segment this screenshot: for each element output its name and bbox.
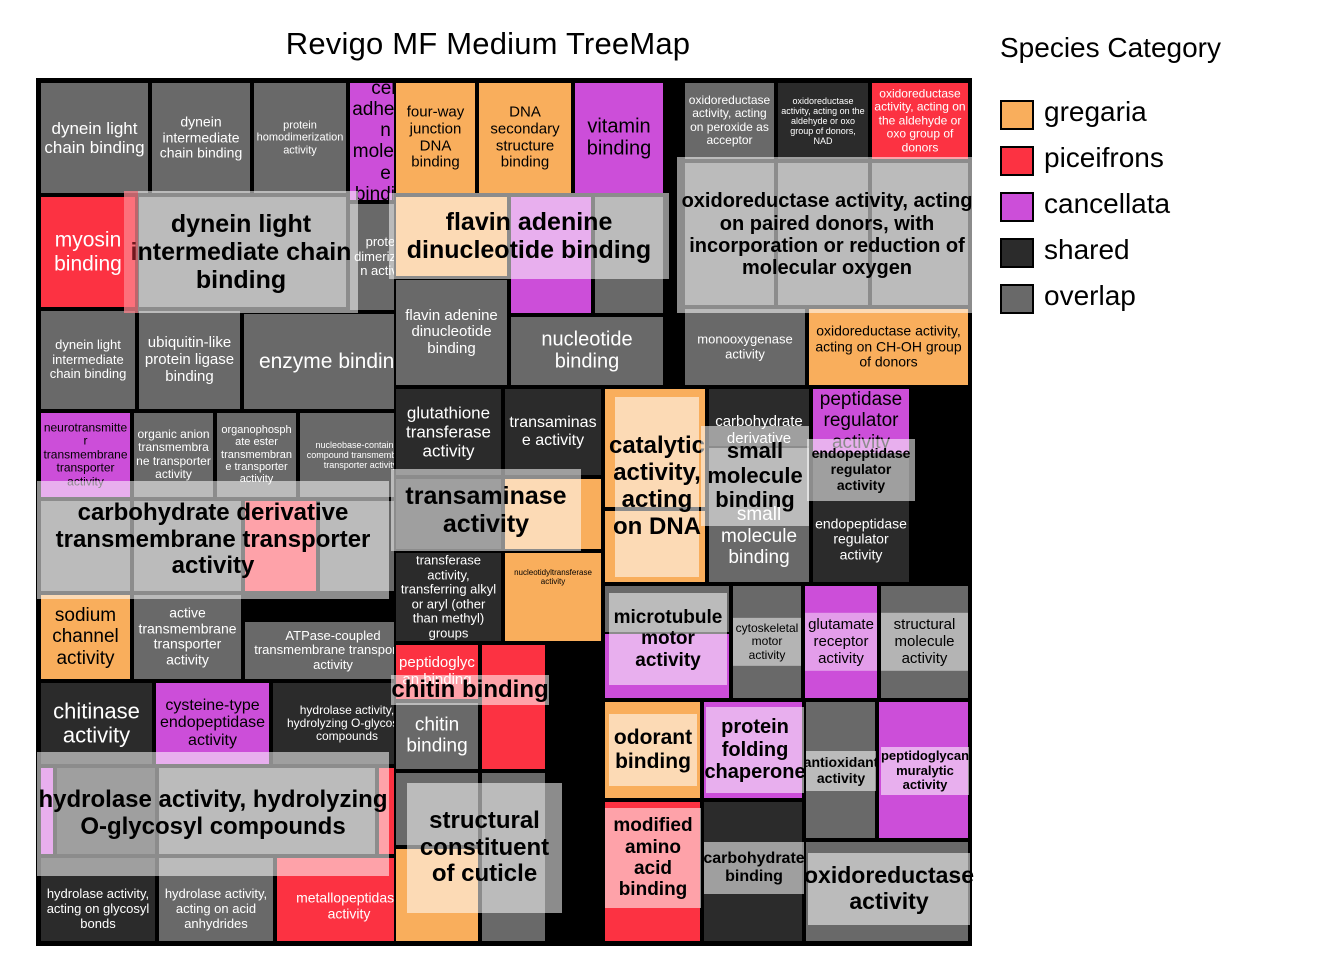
treemap-cell[interactable]: small molecule binding	[707, 446, 811, 584]
treemap-cell-group-area[interactable]	[157, 766, 377, 856]
treemap-cell-group-area[interactable]	[39, 499, 132, 593]
treemap-cell[interactable]: sodium channel activity	[39, 593, 132, 681]
treemap-cell[interactable]: oxidoreductase activity, acting on the a…	[870, 81, 970, 161]
legend-swatch-piceifrons	[1000, 146, 1034, 176]
treemap-cell-group-area[interactable]	[132, 499, 243, 593]
legend-label-shared: shared	[1044, 234, 1130, 266]
treemap-cell[interactable]: flavin adenine dinucleotide binding	[394, 278, 509, 387]
treemap-cell[interactable]: cytoskeletal motor activity	[731, 584, 803, 700]
treemap-cell[interactable]: chitinase activity	[39, 681, 154, 766]
treemap-cell-group-area[interactable]	[804, 700, 877, 840]
legend-swatch-gregaria	[1000, 100, 1034, 130]
treemap-cell[interactable]: neurotransmitter transmembrane transport…	[39, 411, 132, 499]
treemap-cell[interactable]: oxidoreductase activity, acting on CH-OH…	[807, 307, 970, 387]
treemap-cell[interactable]: dynein light chain binding	[39, 81, 150, 195]
treemap-cell-group-area[interactable]	[480, 771, 547, 943]
treemap-cell[interactable]: myosin binding	[39, 195, 137, 309]
treemap-cell[interactable]: endopeptidase regulator activity	[811, 455, 911, 584]
treemap-cell-group-area[interactable]	[603, 387, 707, 509]
treemap-cell[interactable]: oxidoreductase activity, acting on perox…	[683, 81, 776, 161]
treemap-cell-group-area[interactable]	[603, 509, 707, 584]
treemap-figure: Revigo MF Medium TreeMap Species Categor…	[0, 0, 1344, 960]
treemap-cell-group-area[interactable]	[603, 800, 702, 943]
treemap-cell[interactable]: transferase activity, transferring alkyl…	[394, 551, 503, 643]
treemap-cell[interactable]: transaminase activity	[503, 387, 603, 477]
treemap-cell[interactable]: vitamin binding	[573, 81, 665, 195]
legend-title: Species Category	[1000, 32, 1330, 64]
treemap-cell[interactable]: four-way junction DNA binding	[394, 81, 477, 195]
treemap-cell-group-area[interactable]	[877, 700, 970, 840]
treemap-cell[interactable]: dynein intermediate chain binding	[150, 81, 252, 195]
treemap-cell-group-area[interactable]	[394, 195, 509, 278]
treemap-cell[interactable]: oxidoreductase activity, acting on the a…	[776, 81, 870, 161]
treemap-cell-group-area[interactable]	[509, 195, 593, 315]
treemap-cell-group-area[interactable]	[394, 847, 480, 943]
treemap-cell[interactable]: protein homodimerization activity	[252, 81, 348, 195]
treemap-cell-group-area[interactable]	[55, 766, 157, 856]
treemap-cell[interactable]: peptidoglycan binding	[394, 643, 480, 701]
treemap-cell[interactable]: ubiquitin-like protein ligase binding	[137, 309, 242, 411]
treemap-cell-group-area[interactable]	[243, 499, 318, 593]
treemap-cell[interactable]: glutamate receptor activity	[803, 584, 879, 700]
treemap-cell[interactable]: dynein light intermediate chain binding	[39, 309, 137, 411]
treemap-cell-group-area[interactable]	[683, 161, 776, 307]
treemap-cell-group-area[interactable]	[593, 195, 665, 315]
page-title: Revigo MF Medium TreeMap	[0, 26, 976, 62]
treemap-cell[interactable]: organophosphate ester transmembrane tran…	[215, 411, 298, 499]
treemap-cell[interactable]: monooxygenase activity	[683, 307, 807, 387]
treemap-cell-group-area[interactable]	[776, 161, 870, 307]
legend-label-gregaria: gregaria	[1044, 96, 1147, 128]
treemap-cell-group-area[interactable]	[804, 840, 970, 943]
treemap-cell-group-area[interactable]	[39, 766, 55, 856]
treemap-cell-group-area[interactable]	[870, 161, 970, 307]
treemap-cell-group-area[interactable]	[603, 700, 702, 800]
treemap-cell[interactable]: DNA secondary structure binding	[477, 81, 573, 195]
treemap-cell-group-area[interactable]	[702, 700, 804, 800]
treemap-canvas: dynein light chain binding dynein interm…	[36, 78, 972, 946]
treemap-cell[interactable]: cysteine-type endopeptidase activity	[154, 681, 271, 766]
treemap-cell-group-area[interactable]	[394, 771, 480, 847]
treemap-cell-group-area[interactable]	[394, 477, 503, 551]
treemap-cell[interactable]: hydrolase activity, acting on glycosyl b…	[39, 856, 157, 943]
legend-swatch-cancellata	[1000, 192, 1034, 222]
treemap-cell[interactable]: structural molecule activity	[879, 584, 970, 700]
treemap-cell-group-area[interactable]	[480, 643, 547, 771]
legend-swatch-overlap	[1000, 284, 1034, 314]
treemap-cell-group-area[interactable]	[137, 195, 348, 309]
treemap-cell[interactable]: hydrolase activity, acting on acid anhyd…	[157, 856, 275, 943]
legend-label-cancellata: cancellata	[1044, 188, 1170, 220]
legend-swatch-shared	[1000, 238, 1034, 268]
legend-label-piceifrons: piceifrons	[1044, 142, 1164, 174]
treemap-cell[interactable]: active transmembrane transporter activit…	[132, 593, 243, 681]
treemap-cell-group-area[interactable]	[702, 800, 804, 943]
treemap-cell[interactable]: chitin binding	[394, 701, 480, 771]
treemap-cell[interactable]: peptidase regulator activity	[811, 387, 911, 455]
treemap-cell[interactable]: glutathione transferase activity	[394, 387, 503, 477]
treemap-cell[interactable]: organic anion transmembrane transporter …	[132, 411, 215, 499]
treemap-cell-group-area[interactable]	[503, 477, 603, 551]
treemap-cell-group-area[interactable]	[603, 632, 731, 700]
treemap-cell[interactable]: nucleotide binding	[509, 315, 665, 387]
legend-label-overlap: overlap	[1044, 280, 1136, 312]
treemap-cell[interactable]: nucleotidyltransferase activity	[503, 551, 603, 643]
